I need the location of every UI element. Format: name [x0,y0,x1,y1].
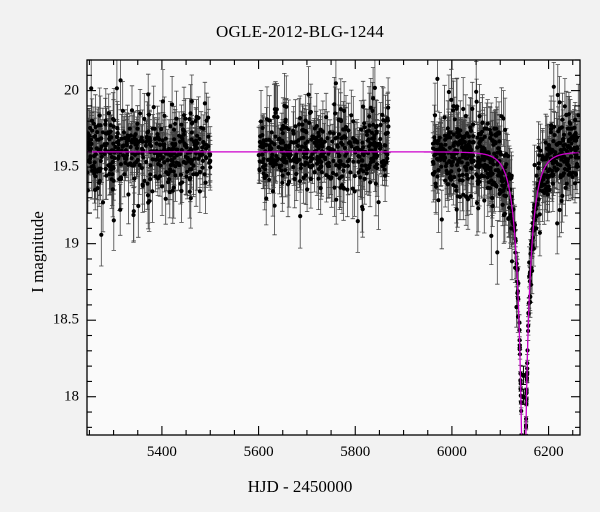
x-tick-label: 5400 [147,444,177,461]
y-tick-label: 20 [64,82,79,99]
light-curve-figure: OGLE-2012-BLG-1244 I magnitude HJD - 245… [0,0,600,512]
x-tick-label: 6000 [437,444,467,461]
y-tick-label: 18.5 [53,312,79,329]
y-tick-label: 18 [64,388,79,405]
page-title: OGLE-2012-BLG-1244 [0,22,600,42]
y-tick-label: 19.5 [53,159,79,176]
y-tick-label: 19 [64,235,79,252]
x-tick-label: 6200 [534,444,564,461]
x-tick-label: 5600 [244,444,274,461]
y-axis-label: I magnitude [28,152,48,352]
x-tick-label: 5800 [340,444,370,461]
x-axis-label: HJD - 2450000 [0,477,600,497]
plot-canvas [0,0,600,512]
